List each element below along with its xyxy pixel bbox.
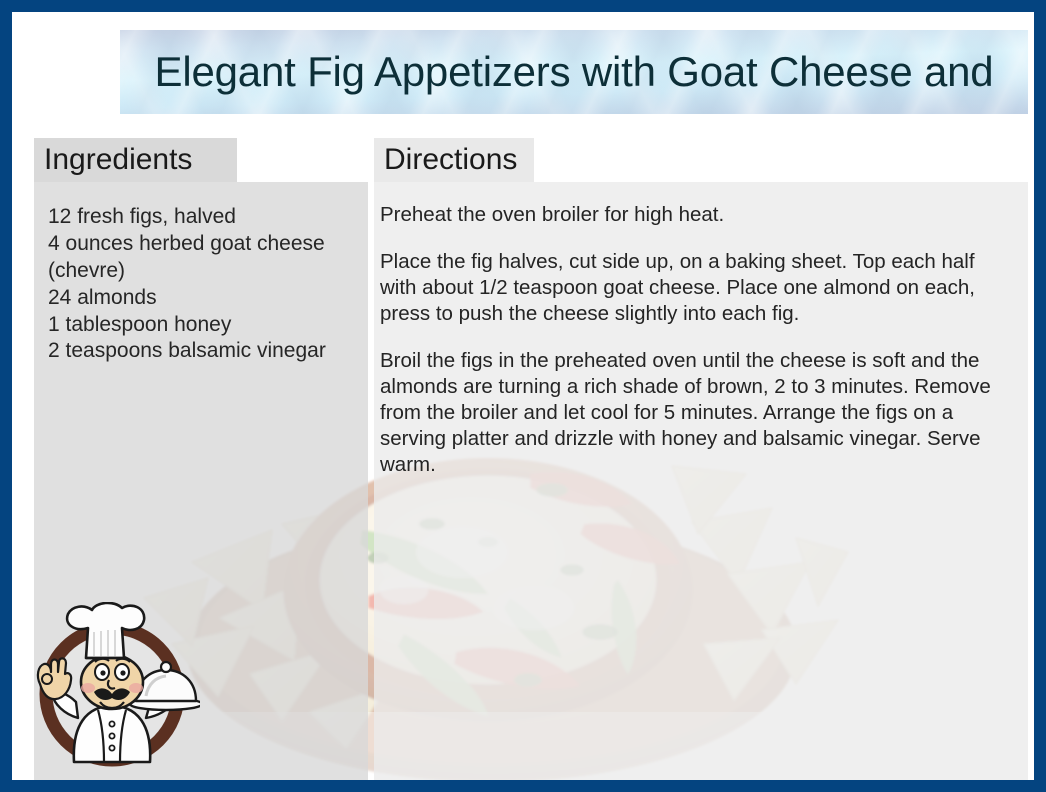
ingredients-tab[interactable]: Ingredients	[34, 138, 237, 182]
list-item: 1 tablespoon honey	[48, 312, 350, 339]
directions-panel: Preheat the oven broiler for high heat. …	[374, 182, 1028, 782]
list-item: 4 ounces herbed goat cheese	[48, 231, 350, 258]
ingredients-tab-label: Ingredients	[44, 145, 192, 175]
direction-step: Broil the figs in the preheated oven unt…	[380, 348, 1014, 478]
directions-tab-label: Directions	[384, 145, 517, 175]
title-banner: Elegant Fig Appetizers with Goat Cheese …	[120, 30, 1028, 114]
direction-step: Place the fig halves, cut side up, on a …	[380, 249, 1014, 327]
page-title: Elegant Fig Appetizers with Goat Cheese …	[120, 50, 1028, 94]
directions-steps: Preheat the oven broiler for high heat. …	[380, 202, 1014, 478]
directions-tab[interactable]: Directions	[374, 138, 534, 182]
list-item: 24 almonds	[48, 285, 350, 312]
list-item: (chevre)	[48, 258, 350, 285]
ok-hand-icon	[38, 658, 71, 699]
direction-step: Preheat the oven broiler for high heat.	[380, 202, 1014, 228]
list-item: 2 teaspoons balsamic vinegar	[48, 338, 350, 365]
list-item: 12 fresh figs, halved	[48, 204, 350, 231]
recipe-slide: Elegant Fig Appetizers with Goat Cheese …	[0, 0, 1046, 792]
ingredients-list: 12 fresh figs, halved 4 ounces herbed go…	[48, 204, 350, 365]
chef-logo	[24, 602, 200, 774]
